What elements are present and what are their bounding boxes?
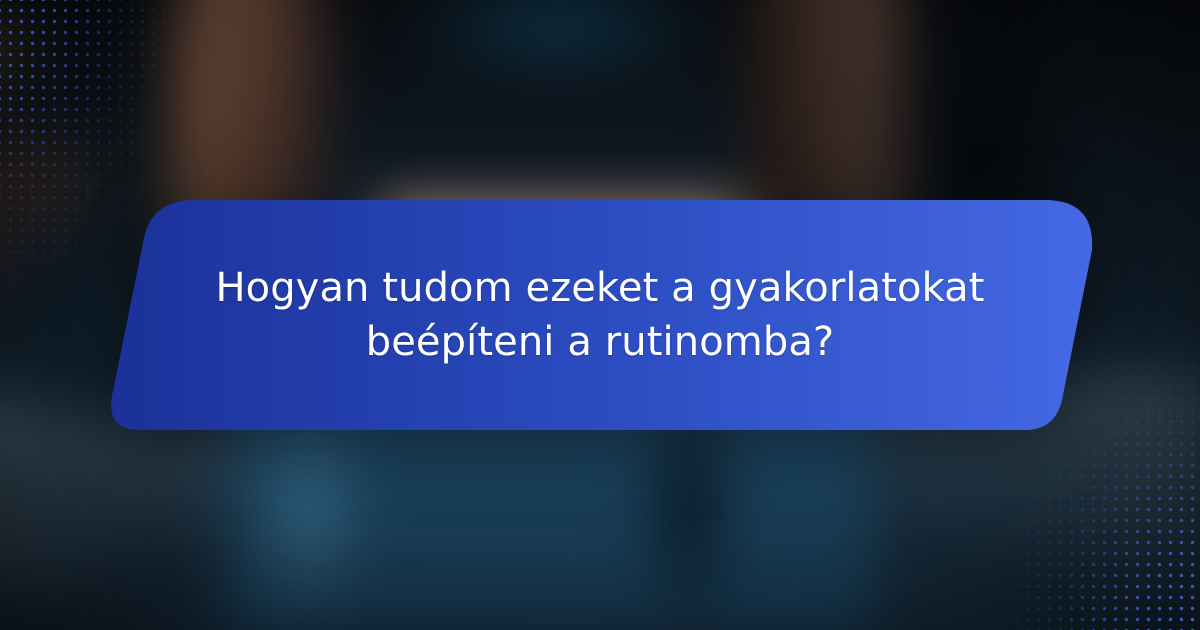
question-line-2: beépíteni a rutinomba?	[366, 321, 835, 363]
question-line-1: Hogyan tudom ezeket a gyakorlatokat	[215, 267, 984, 309]
social-card-canvas: Hogyan tudom ezeket a gyakorlatokat beép…	[0, 0, 1200, 630]
question-card-text: Hogyan tudom ezeket a gyakorlatokat beép…	[100, 198, 1100, 432]
photo-sports-bra-shading	[399, 0, 717, 87]
question-card: Hogyan tudom ezeket a gyakorlatokat beép…	[100, 198, 1100, 432]
photo-floor-left	[0, 416, 229, 628]
